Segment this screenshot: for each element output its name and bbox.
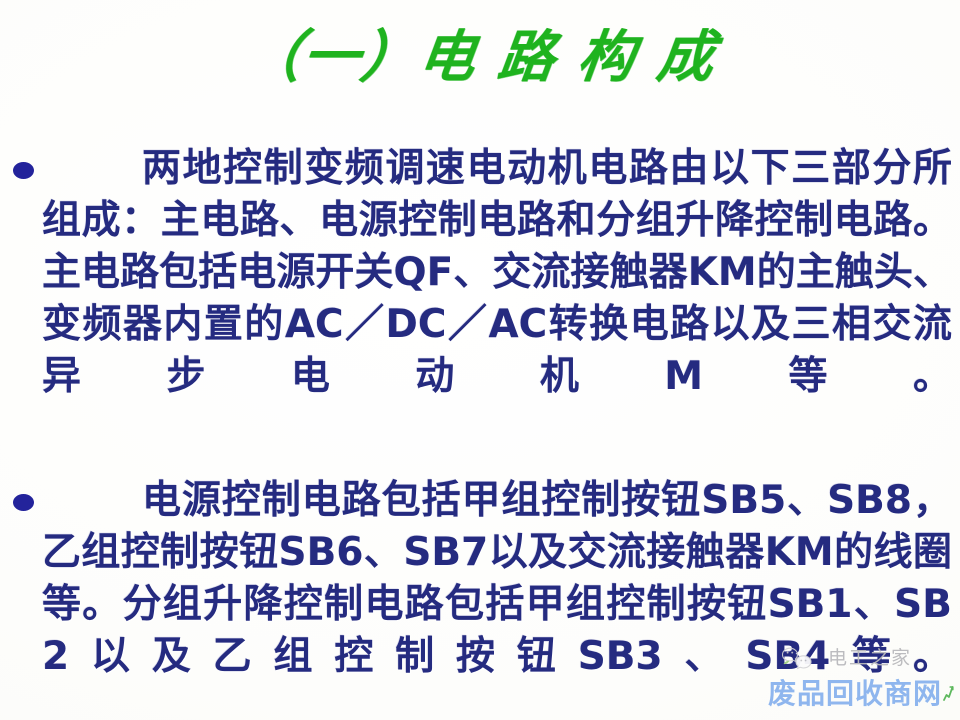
recycle-watermark: 废品回收商网 <box>768 678 954 710</box>
bullet-item-1: 两地控制变频调速电动机电路由以下三部分所组成：主电路、电源控制电路和分组升降控制… <box>0 143 960 455</box>
page-title: （一）电 路 构 成 <box>241 26 719 90</box>
slide-title-block: （一）电 路 构 成 <box>0 26 960 90</box>
wechat-watermark: 电工之家 <box>782 644 912 672</box>
slide-canvas: （一）电 路 构 成 两地控制变频调速电动机电路由以下三部分所组成：主电路、电源… <box>0 0 960 720</box>
slide-body: 两地控制变频调速电动机电路由以下三部分所组成：主电路、电源控制电路和分组升降控制… <box>0 143 960 720</box>
rising-chart-icon <box>943 683 954 705</box>
watermark-group: 电工之家 废品回收商网 <box>764 640 954 716</box>
bullet-dot-icon <box>13 162 34 179</box>
wechat-watermark-label: 电工之家 <box>828 647 912 669</box>
recycle-watermark-label: 废品回收商网 <box>768 678 942 710</box>
bullet-paragraph-1: 两地控制变频调速电动机电路由以下三部分所组成：主电路、电源控制电路和分组升降控制… <box>0 143 960 455</box>
bullet-dot-icon <box>13 494 34 511</box>
wechat-logo-icon <box>782 644 822 672</box>
